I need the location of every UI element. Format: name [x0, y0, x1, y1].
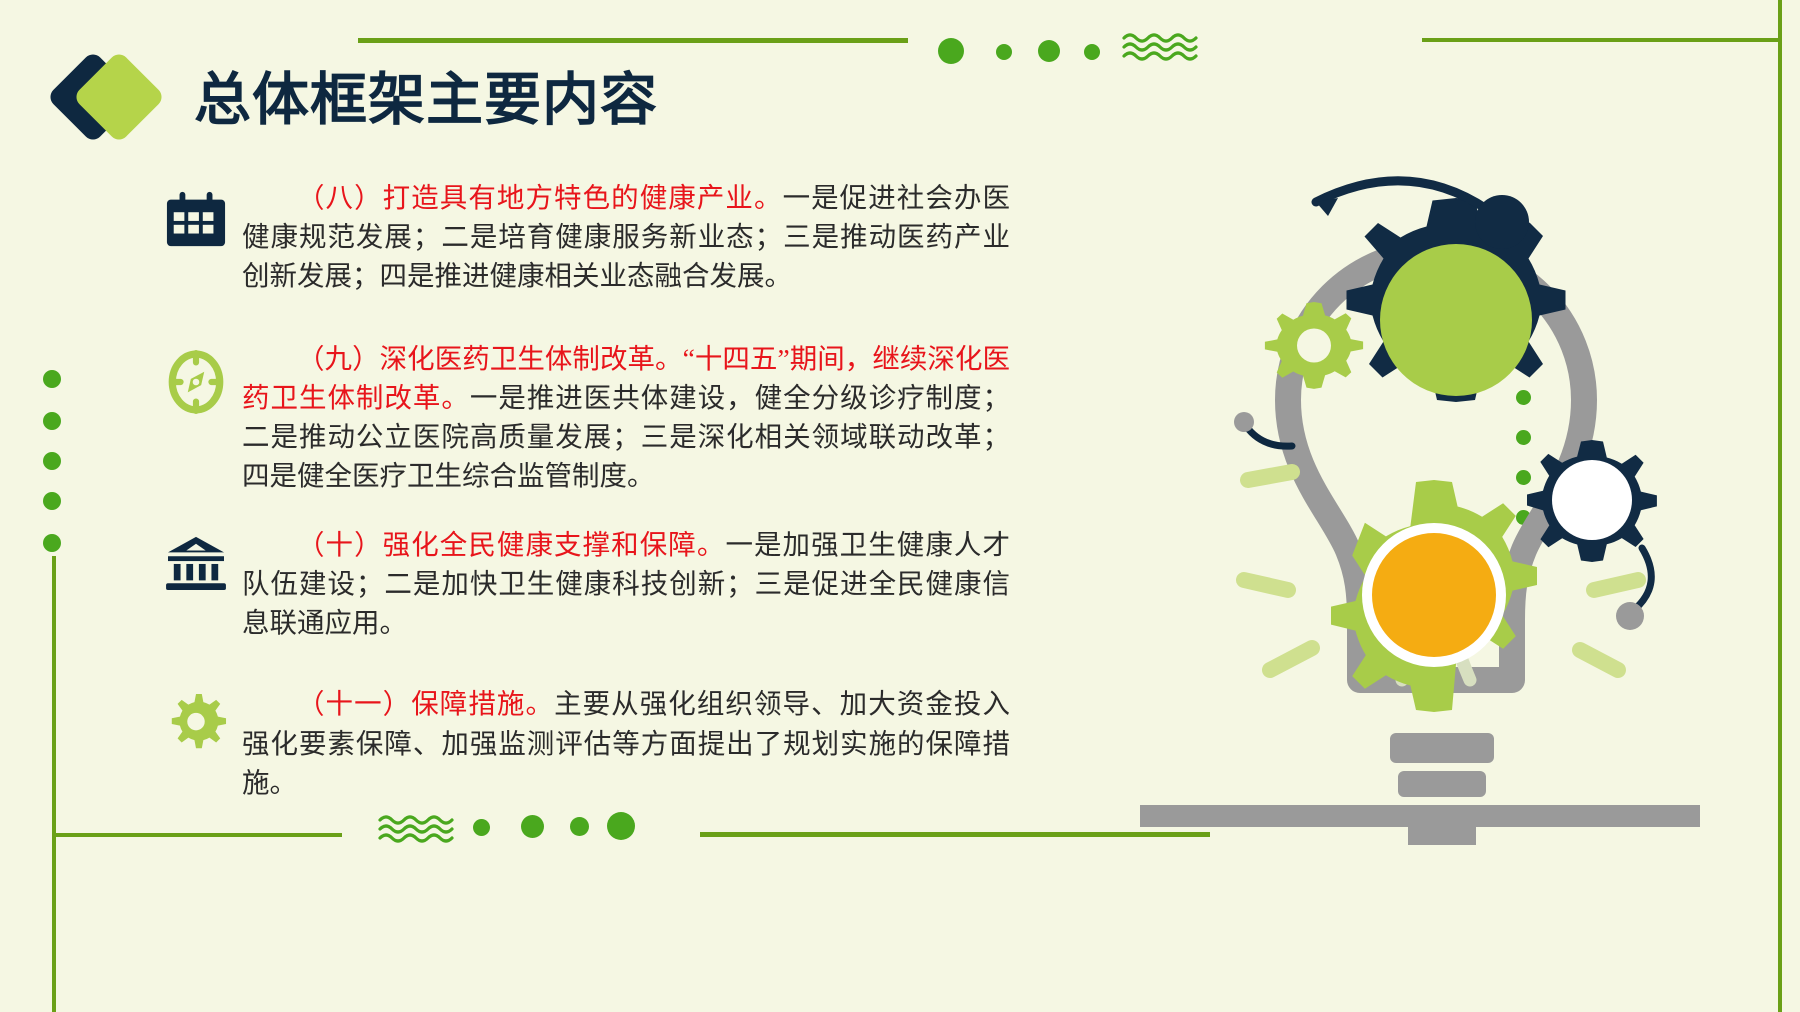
- decor-dot-left-col-1: [43, 370, 61, 388]
- diamond-logo-icon: [60, 52, 168, 148]
- frame-rule-top-horizontal: [1422, 38, 1782, 42]
- lightbulb-gears-illustration: [1140, 150, 1760, 870]
- list-item-heading: （八）打造具有地方特色的健康产业。: [297, 182, 783, 213]
- gear-icon: [150, 684, 242, 766]
- list-item: （九）深化医药卫生体制改革。“十四五”期间，继续深化医药卫生体制改革。一是推进医…: [150, 339, 1010, 495]
- decor-dot-top-4: [1084, 44, 1100, 60]
- decor-dot-left-col-5: [43, 534, 61, 552]
- decor-dot-top-1: [938, 38, 964, 64]
- decor-dot-left-col-4: [43, 492, 61, 510]
- frame-rule-top-right-vertical: [1778, 0, 1782, 40]
- bank-icon: [150, 525, 242, 607]
- title-block: 总体框架主要内容: [60, 52, 658, 148]
- page-title: 总体框架主要内容: [194, 72, 658, 129]
- content-list: （八）打造具有地方特色的健康产业。一是促进社会办医健康规范发展；二是培育健康服务…: [150, 178, 1010, 832]
- decor-dot-top-2: [996, 44, 1012, 60]
- frame-rule-bottom-horizontal: [52, 833, 342, 837]
- list-item: （十一）保障措施。主要从强化组织领导、加大资金投入强化要素保障、加强监测评估等方…: [150, 684, 1010, 801]
- list-item-text: （九）深化医药卫生体制改革。“十四五”期间，继续深化医药卫生体制改革。一是推进医…: [242, 339, 1010, 495]
- decor-dot-left-col-3: [43, 452, 61, 470]
- list-item-text: （十一）保障措施。主要从强化组织领导、加大资金投入强化要素保障、加强监测评估等方…: [242, 684, 1010, 801]
- list-item-text: （八）打造具有地方特色的健康产业。一是促进社会办医健康规范发展；二是培育健康服务…: [242, 178, 1010, 295]
- list-item: （八）打造具有地方特色的健康产业。一是促进社会办医健康规范发展；二是培育健康服务…: [150, 178, 1010, 295]
- frame-rule-left-vertical: [52, 556, 56, 1012]
- compass-icon: [150, 339, 242, 421]
- slide-root: 总体框架主要内容: [0, 0, 1800, 1012]
- list-item: （十）强化全民健康支撑和保障。一是加强卫生健康人才队伍建设；二是加快卫生健康科技…: [150, 525, 1010, 642]
- wave-squiggle-top-icon: [1122, 30, 1200, 66]
- decor-dot-left-col-2: [43, 412, 61, 430]
- title-underline-rule: [358, 38, 908, 43]
- bottom-long-rule: [700, 832, 1210, 837]
- frame-rule-right-vertical: [1778, 40, 1782, 1012]
- list-item-text: （十）强化全民健康支撑和保障。一是加强卫生健康人才队伍建设；二是加快卫生健康科技…: [242, 525, 1010, 642]
- calendar-icon: [150, 178, 242, 260]
- list-item-heading: （十一）保障措施。: [297, 688, 554, 719]
- list-item-heading: （十）强化全民健康支撑和保障。: [297, 529, 725, 560]
- decor-dot-top-3: [1038, 40, 1060, 62]
